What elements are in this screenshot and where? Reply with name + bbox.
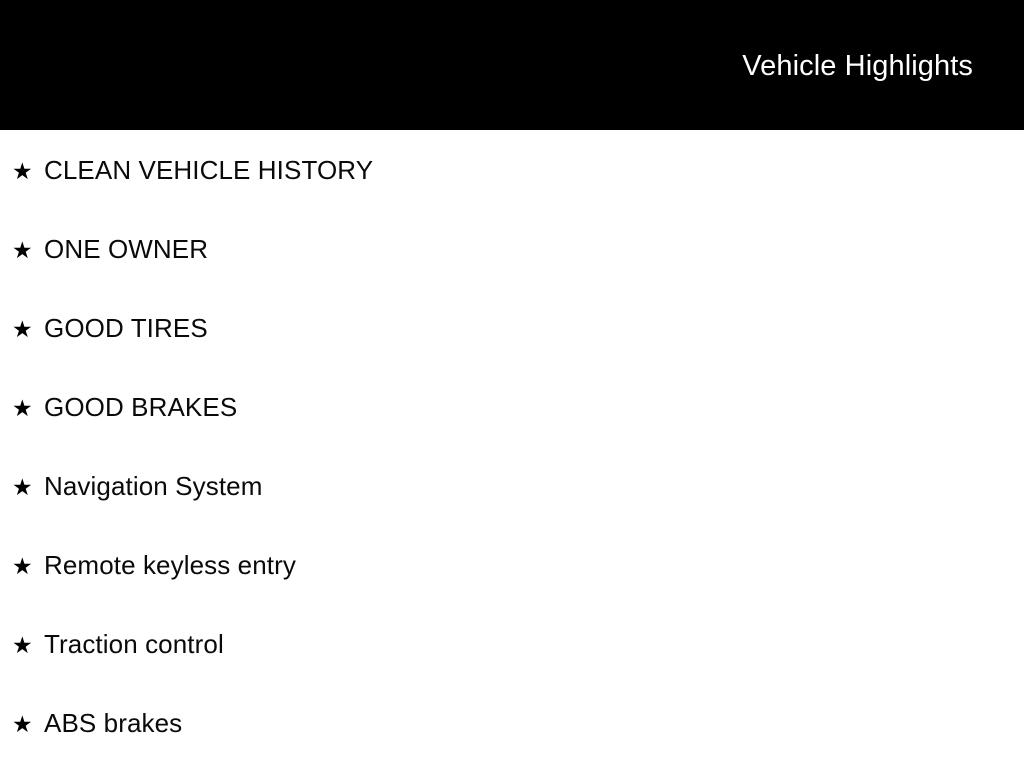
list-item-label: ONE OWNER [44,235,208,263]
list-item: ★ CLEAN VEHICLE HISTORY [0,130,1024,209]
list-item: ★ Navigation System [0,446,1024,525]
list-item-label: Traction control [44,630,224,658]
list-item-label: GOOD TIRES [44,314,208,342]
list-item-label: GOOD BRAKES [44,393,237,421]
list-item: ★ Traction control [0,604,1024,683]
list-item: ★ GOOD TIRES [0,288,1024,367]
star-icon: ★ [12,394,44,422]
star-icon: ★ [12,710,44,738]
list-item: ★ ONE OWNER [0,209,1024,288]
list-item: ★ ABS brakes [0,683,1024,762]
vehicle-highlights-page: Vehicle Highlights ★ CLEAN VEHICLE HISTO… [0,0,1024,768]
page-title: Vehicle Highlights [742,49,973,83]
list-item-label: Remote keyless entry [44,551,296,579]
header-bar: Vehicle Highlights [0,0,1024,130]
list-item-label: Navigation System [44,472,262,500]
vehicle-highlights-list: ★ CLEAN VEHICLE HISTORY ★ ONE OWNER ★ GO… [0,130,1024,762]
star-icon: ★ [12,552,44,580]
star-icon: ★ [12,631,44,659]
star-icon: ★ [12,315,44,343]
star-icon: ★ [12,473,44,501]
list-item: ★ GOOD BRAKES [0,367,1024,446]
star-icon: ★ [12,236,44,264]
list-item-label: CLEAN VEHICLE HISTORY [44,156,373,184]
star-icon: ★ [12,157,44,185]
list-item: ★ Remote keyless entry [0,525,1024,604]
list-item-label: ABS brakes [44,709,182,737]
